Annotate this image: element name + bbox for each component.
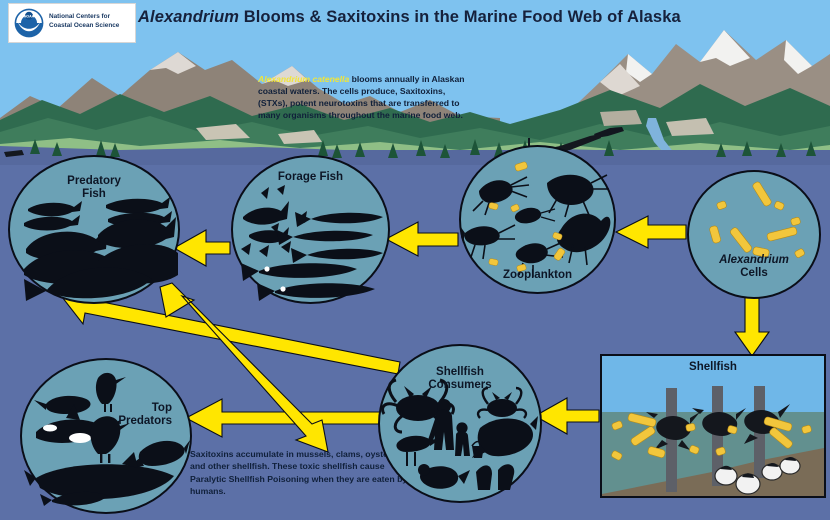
shellfish-panel[interactable]: Shellfish (600, 354, 826, 498)
shellfish-panel-title: Shellfish (602, 361, 824, 373)
arrow-zooplankton-to-forage-fish (386, 222, 458, 256)
intro-caption: Alexandrium catenella blooms annually in… (258, 74, 473, 121)
logo-line-1: National Centers for (49, 13, 110, 20)
svg-text:NOAA: NOAA (24, 15, 35, 19)
alexandrium-cells-illustration (689, 172, 819, 297)
logo-line-2: Coastal Ocean Science (49, 22, 119, 29)
node-forage-fish[interactable]: Forage Fish (231, 155, 390, 304)
shellfish-consumers-illustration (380, 346, 540, 501)
shellfish-caption: Saxitoxins accumulate in mussels, clams,… (190, 448, 408, 497)
node-alexandrium-cells[interactable]: Alexandrium Cells (687, 170, 821, 299)
zooplankton-illustration (461, 147, 614, 292)
logo-text: National Centers for Coastal Ocean Scien… (49, 12, 135, 31)
page-title: Alexandrium Blooms & Saxitoxins in the M… (138, 8, 698, 27)
page-title-genus: Alexandrium (138, 8, 239, 26)
arrow-alexandrium-to-zooplankton (616, 216, 686, 248)
shellfish-habitat-illustration (602, 356, 824, 496)
noaa-logo-box: NOAA National Centers for Coastal Ocean … (8, 3, 136, 43)
node-shellfish-consumers[interactable]: Shellfish Consumers (378, 344, 542, 503)
arrow-consumers-to-top-predators (186, 399, 380, 437)
arrow-forage-to-predatory-fish (174, 230, 230, 266)
top-predators-illustration (22, 360, 190, 512)
arrow-shellfish-to-consumers (535, 398, 599, 434)
noaa-seal-icon: NOAA (13, 7, 45, 39)
arrow-alexandrium-to-shellfish (735, 294, 769, 356)
forage-fish-illustration (233, 157, 388, 302)
page-title-rest: Blooms & Saxitoxins in the Marine Food W… (239, 8, 681, 26)
node-predatory-fish[interactable]: Predatory Fish (8, 155, 180, 304)
infographic-canvas: NOAA National Centers for Coastal Ocean … (0, 0, 830, 520)
node-top-predators[interactable]: Top Predators (20, 358, 192, 514)
predatory-fish-illustration (10, 157, 178, 302)
node-zooplankton[interactable]: Zooplankton (459, 145, 616, 294)
intro-caption-species: Alexandrium catenella (258, 74, 349, 84)
